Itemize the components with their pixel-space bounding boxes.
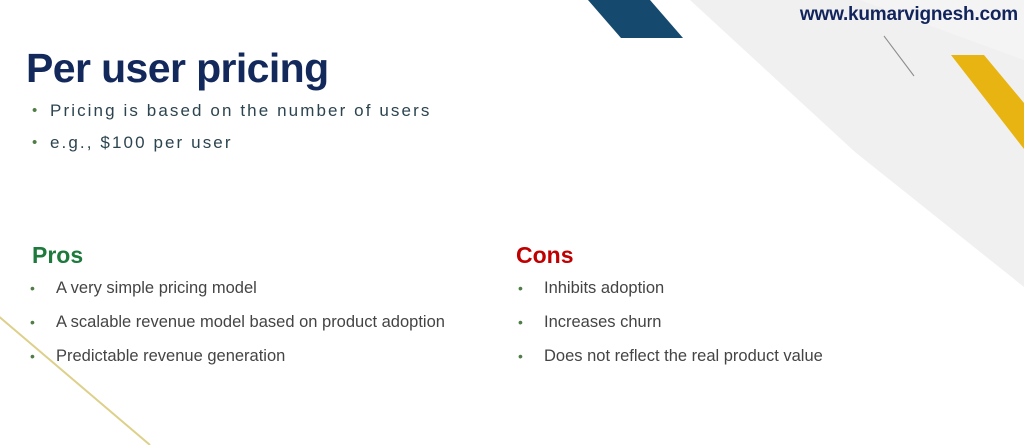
list-item: • Predictable revenue generation bbox=[28, 345, 498, 368]
list-item: • Pricing is based on the number of user… bbox=[26, 100, 431, 122]
pros-column: Pros • A very simple pricing model • A s… bbox=[28, 243, 498, 379]
list-item-label: Does not reflect the real product value bbox=[544, 345, 823, 368]
slide-canvas: www.kumarvignesh.com Per user pricing • … bbox=[0, 0, 1024, 445]
list-item: • A scalable revenue model based on prod… bbox=[28, 311, 498, 334]
bullet-dot-icon: • bbox=[28, 311, 56, 334]
list-item-label: Pricing is based on the number of users bbox=[50, 100, 431, 122]
list-item-label: A scalable revenue model based on produc… bbox=[56, 311, 445, 334]
list-item-label: Predictable revenue generation bbox=[56, 345, 285, 368]
site-url: www.kumarvignesh.com bbox=[800, 4, 1018, 26]
list-item: • Inhibits adoption bbox=[516, 277, 986, 300]
bullet-dot-icon: • bbox=[26, 132, 50, 154]
list-item: • Increases churn bbox=[516, 311, 986, 334]
page-title: Per user pricing bbox=[26, 45, 329, 92]
bullet-dot-icon: • bbox=[516, 311, 544, 334]
bullet-dot-icon: • bbox=[28, 345, 56, 368]
bullet-dot-icon: • bbox=[26, 100, 50, 122]
list-item-label: A very simple pricing model bbox=[56, 277, 257, 300]
cons-heading: Cons bbox=[516, 243, 986, 268]
list-item: • e.g., $100 per user bbox=[26, 132, 431, 154]
cons-column: Cons • Inhibits adoption • Increases chu… bbox=[516, 243, 986, 379]
cons-list: • Inhibits adoption • Increases churn • … bbox=[516, 277, 986, 368]
bullet-dot-icon: • bbox=[516, 345, 544, 368]
list-item-label: Increases churn bbox=[544, 311, 661, 334]
pros-heading: Pros bbox=[28, 243, 498, 268]
intro-bullet-list: • Pricing is based on the number of user… bbox=[26, 100, 431, 164]
list-item-label: Inhibits adoption bbox=[544, 277, 664, 300]
list-item: • A very simple pricing model bbox=[28, 277, 498, 300]
pros-list: • A very simple pricing model • A scalab… bbox=[28, 277, 498, 368]
bullet-dot-icon: • bbox=[516, 277, 544, 300]
list-item-label: e.g., $100 per user bbox=[50, 132, 233, 154]
navy-diagonal-band bbox=[588, 0, 683, 38]
list-item: • Does not reflect the real product valu… bbox=[516, 345, 986, 368]
bullet-dot-icon: • bbox=[28, 277, 56, 300]
